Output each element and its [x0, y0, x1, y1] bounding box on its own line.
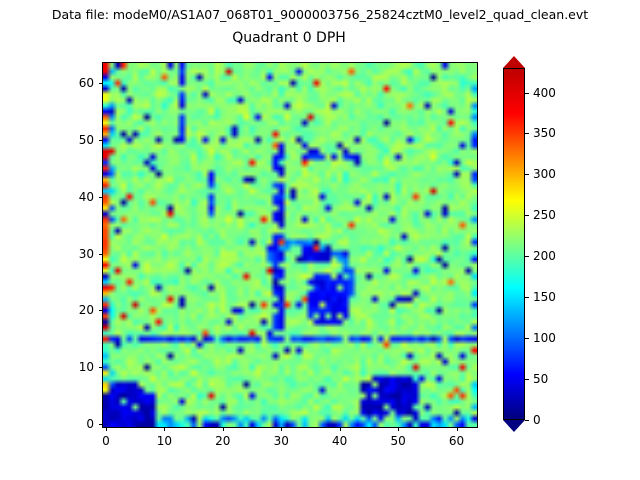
colorbar-tick-label: 150 [533, 290, 556, 304]
page-title: Quadrant 0 DPH [102, 30, 476, 46]
colorbar-tick [525, 420, 529, 421]
colorbar-gradient [503, 68, 525, 420]
y-tick [99, 83, 103, 84]
colorbar-tick-label: 250 [533, 208, 556, 222]
y-tick-label: 50 [58, 133, 94, 147]
colorbar-tick-label: 300 [533, 167, 556, 181]
y-tick [99, 254, 103, 255]
colorbar-tick [525, 215, 529, 216]
y-tick-label: 20 [58, 303, 94, 317]
colorbar: 050100150200250300350400 [503, 62, 525, 426]
colorbar-tick [525, 256, 529, 257]
y-tick [99, 140, 103, 141]
matplotlib-figure: Data file: modeM0/AS1A07_068T01_90000037… [0, 0, 640, 480]
y-tick [99, 310, 103, 311]
colorbar-tick [525, 93, 529, 94]
colorbar-tick-label: 350 [533, 126, 556, 140]
x-tick [281, 427, 282, 431]
colorbar-tick-label: 50 [533, 372, 548, 386]
colorbar-tick [525, 379, 529, 380]
y-tick [99, 367, 103, 368]
x-tick [398, 427, 399, 431]
y-tick [99, 424, 103, 425]
x-tick-label: 20 [215, 434, 230, 448]
x-tick [223, 427, 224, 431]
x-tick [457, 427, 458, 431]
colorbar-tick [525, 338, 529, 339]
colorbar-tick [525, 133, 529, 134]
x-tick-label: 60 [449, 434, 464, 448]
x-tick-label: 30 [274, 434, 289, 448]
x-tick-label: 40 [332, 434, 347, 448]
colorbar-tick-label: 100 [533, 331, 556, 345]
colorbar-extend-max-arrow [503, 56, 525, 68]
y-tick-label: 0 [58, 417, 94, 431]
colorbar-tick-label: 400 [533, 86, 556, 100]
colorbar-tick [525, 174, 529, 175]
colorbar-tick-label: 200 [533, 249, 556, 263]
x-tick [106, 427, 107, 431]
x-tick [340, 427, 341, 431]
y-tick-label: 30 [58, 247, 94, 261]
detector-heatmap-image [103, 63, 477, 427]
y-tick-label: 60 [58, 76, 94, 90]
heatmap-axes [102, 62, 478, 428]
colorbar-extend-min-arrow [503, 420, 525, 432]
x-tick-label: 0 [102, 434, 110, 448]
x-tick-label: 10 [157, 434, 172, 448]
y-tick-label: 10 [58, 360, 94, 374]
x-tick [164, 427, 165, 431]
y-tick-label: 40 [58, 190, 94, 204]
y-tick [99, 197, 103, 198]
colorbar-gradient-canvas [504, 69, 524, 419]
colorbar-tick-label: 0 [533, 413, 541, 427]
data-file-label: Data file: modeM0/AS1A07_068T01_90000037… [0, 7, 640, 22]
colorbar-tick [525, 297, 529, 298]
x-tick-label: 50 [390, 434, 405, 448]
